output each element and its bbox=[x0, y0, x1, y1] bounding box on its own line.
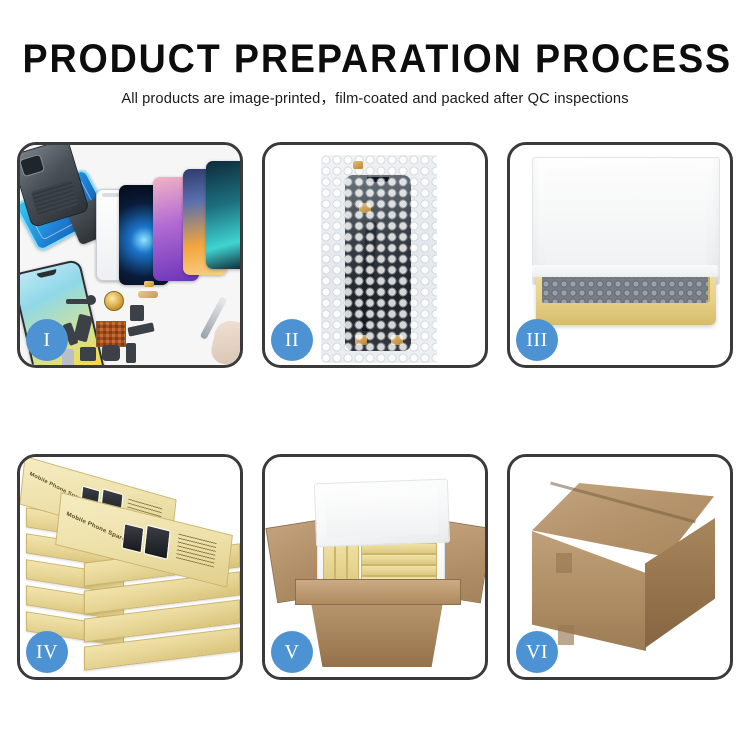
carton-front-edge bbox=[295, 579, 461, 605]
product-preparation-infographic: PRODUCT PREPARATION PROCESS All products… bbox=[0, 0, 750, 750]
box-artwork-screen-3 bbox=[122, 523, 145, 553]
step-panel-3: III bbox=[507, 142, 733, 368]
part-screw bbox=[86, 295, 96, 305]
inner-yellow-box-5 bbox=[361, 554, 437, 565]
phone-screen-teal bbox=[206, 161, 240, 269]
page-title: PRODUCT PREPARATION PROCESS bbox=[23, 36, 728, 82]
step-badge-3: III bbox=[516, 319, 558, 361]
foam-box-lid bbox=[314, 479, 450, 548]
process-step-grid: I II bbox=[17, 142, 733, 680]
part-button-module bbox=[102, 345, 120, 361]
carton-tape-lower bbox=[558, 625, 574, 645]
box-artwork-screen-4 bbox=[144, 525, 171, 560]
header: PRODUCT PREPARATION PROCESS All products… bbox=[0, 36, 750, 110]
foam-lip-edge bbox=[532, 265, 718, 277]
step-panel-6: VI bbox=[507, 454, 733, 680]
step-panel-1: I bbox=[17, 142, 243, 368]
step-badge-6: VI bbox=[516, 631, 558, 673]
carton-tape-upper bbox=[556, 553, 572, 573]
step-badge-4: IV bbox=[26, 631, 68, 673]
part-gold-contact bbox=[144, 281, 154, 287]
bubble-texture bbox=[321, 155, 437, 363]
inner-yellow-box-6 bbox=[361, 565, 437, 576]
step-panel-5: V bbox=[262, 454, 488, 680]
box-spec-lines-front bbox=[176, 533, 217, 568]
part-vibrator bbox=[80, 347, 96, 361]
step-badge-5: V bbox=[271, 631, 313, 673]
step-badge-2: II bbox=[271, 319, 313, 361]
step-panel-2: II bbox=[262, 142, 488, 368]
part-flex-connector bbox=[138, 291, 158, 298]
step-panel-4: Mobile Phone Spare Parts Mobile Phone Sp… bbox=[17, 454, 243, 680]
screw-grid-component bbox=[96, 321, 126, 347]
tape-seal bbox=[353, 161, 363, 169]
part-camera-module bbox=[130, 305, 144, 321]
part-sim-tray bbox=[126, 343, 136, 363]
page-subtitle: All products are image-printed，film-coat… bbox=[8, 88, 743, 110]
step-badge-1: I bbox=[26, 319, 68, 361]
speaker-component bbox=[104, 291, 124, 311]
bubble-wrap-bag bbox=[321, 155, 437, 363]
